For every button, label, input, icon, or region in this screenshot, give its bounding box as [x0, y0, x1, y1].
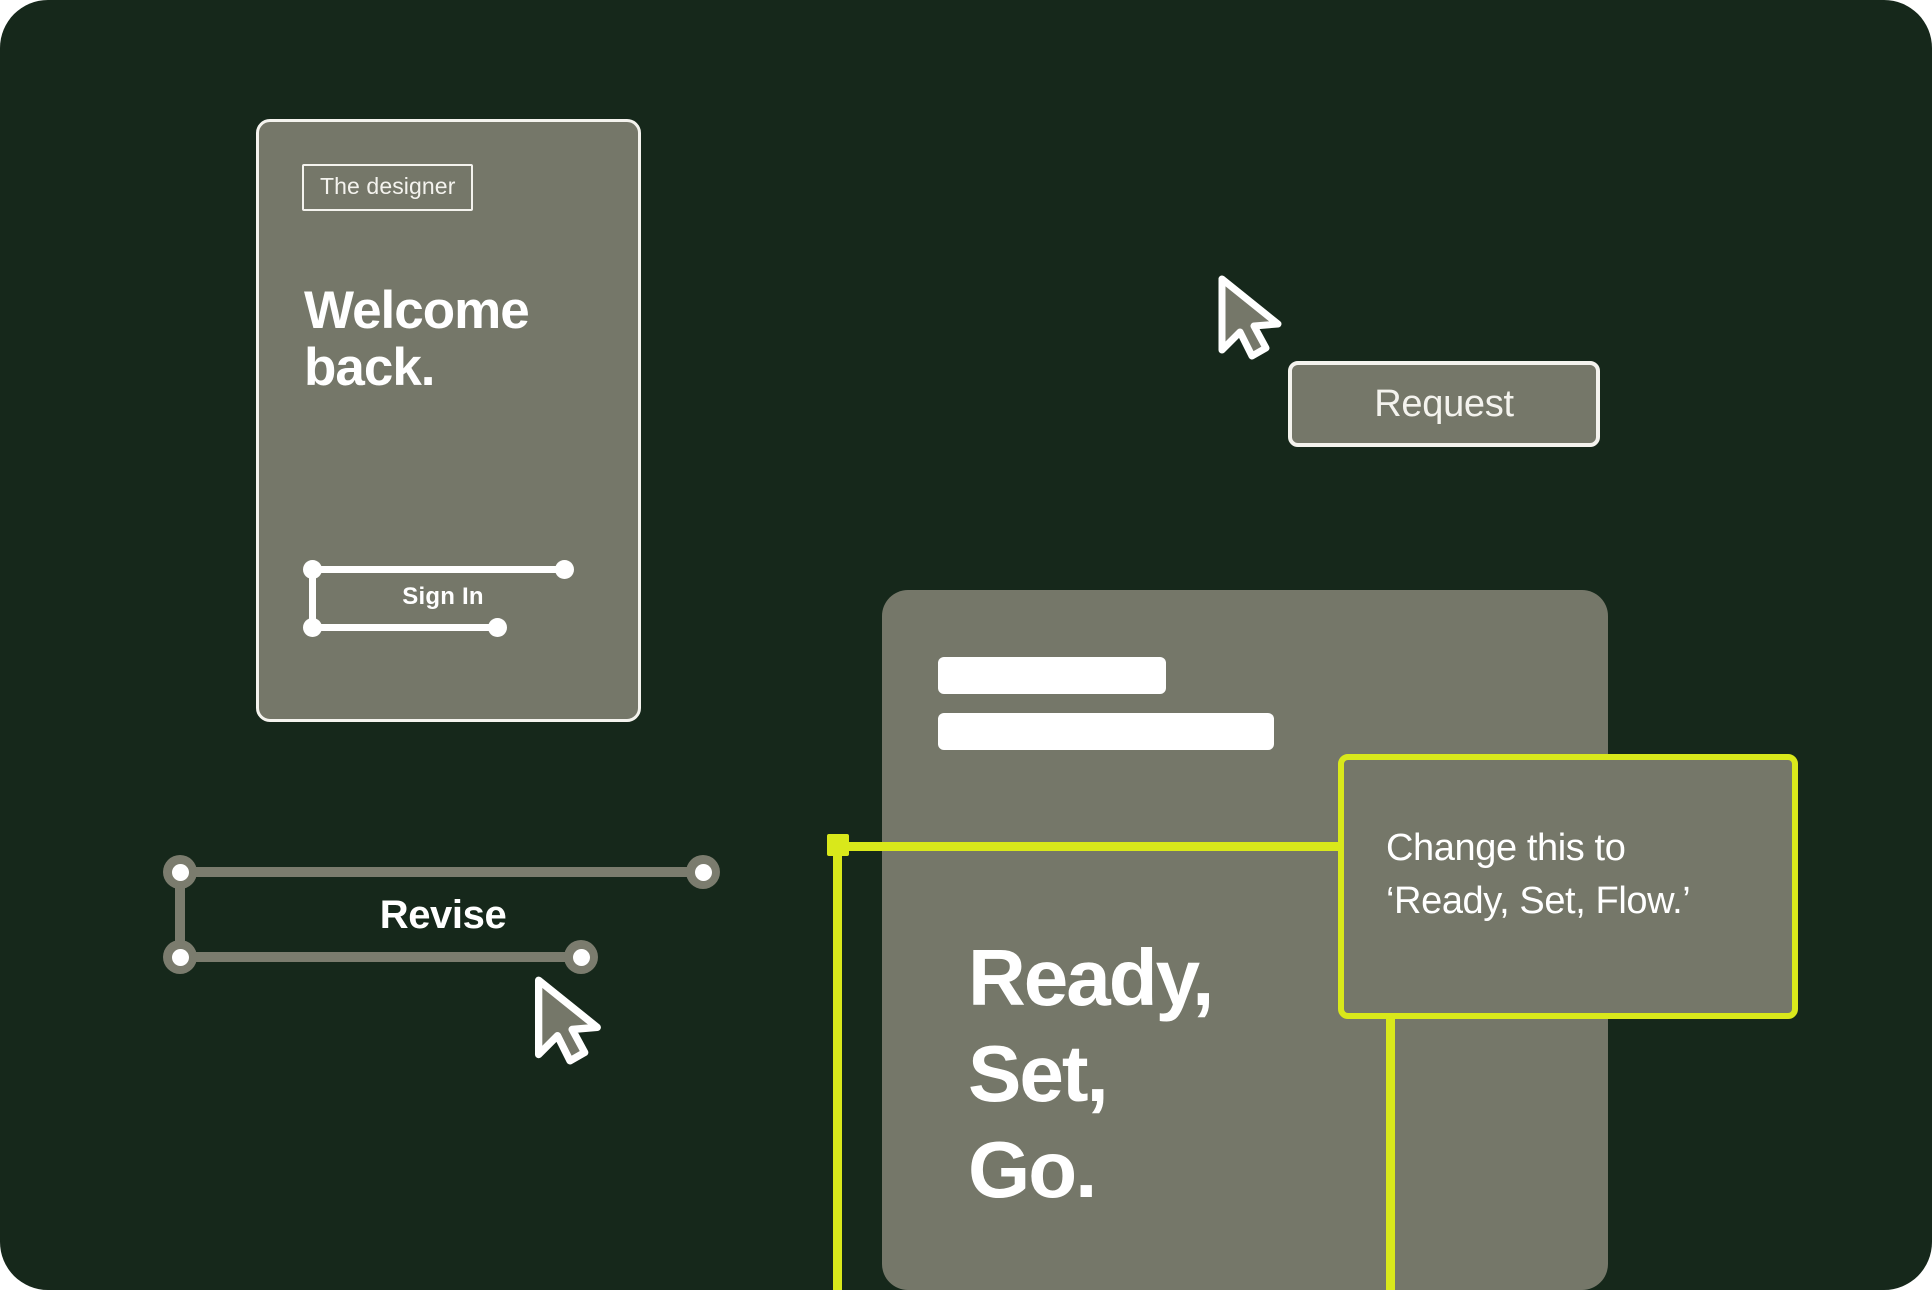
- pointer-cursor-icon: [530, 975, 608, 1070]
- annotation-line-1: Change this to: [1386, 827, 1625, 869]
- selection-line-bottom: [311, 624, 496, 631]
- headline-line-1: Ready,: [968, 933, 1212, 1022]
- pointer-cursor-icon: [1214, 274, 1288, 365]
- annotation-tooltip-text: Change this to ‘Ready, Set, Flow.’: [1386, 822, 1766, 928]
- selection-handle-bottom-left[interactable]: [163, 940, 197, 974]
- annotation-connector-horizontal: [828, 842, 1341, 851]
- placeholder-bar-1: [938, 657, 1166, 694]
- artboard-headline[interactable]: Ready, Set, Go.: [968, 930, 1328, 1218]
- annotation-line-2: ‘Ready, Set, Flow.’: [1386, 875, 1766, 928]
- annotation-tooltip[interactable]: Change this to ‘Ready, Set, Flow.’: [1338, 754, 1798, 1019]
- request-button[interactable]: Request: [1288, 361, 1600, 447]
- selection-corner-handle[interactable]: [827, 834, 849, 856]
- selection-handle-top-right[interactable]: [686, 855, 720, 889]
- selection-handle-top-left[interactable]: [163, 855, 197, 889]
- revise-selection[interactable]: Revise: [163, 855, 723, 965]
- headline-line-2: Set,: [968, 1029, 1107, 1118]
- sign-in-label: Sign In: [343, 583, 543, 611]
- selection-handle-bottom-right[interactable]: [564, 940, 598, 974]
- selection-line-bottom: [179, 952, 581, 962]
- selection-handle-bottom-left[interactable]: [303, 618, 322, 637]
- selection-handle-bottom-right[interactable]: [488, 618, 507, 637]
- selection-line-top: [179, 867, 703, 877]
- selection-handle-top-right[interactable]: [555, 560, 574, 579]
- headline-line-3: Go.: [968, 1125, 1095, 1214]
- sign-in-selection[interactable]: Sign In: [303, 560, 578, 640]
- welcome-line-1: Welcome: [304, 281, 529, 340]
- welcome-line-2: back.: [304, 338, 435, 397]
- design-canvas: The designer Welcome back. Sign In Reque…: [0, 0, 1932, 1290]
- selection-handle-top-left[interactable]: [303, 560, 322, 579]
- annotation-connector-vertical-down: [1386, 1015, 1395, 1290]
- placeholder-bar-2: [938, 713, 1274, 750]
- annotation-connector-vertical-left: [833, 846, 842, 1290]
- welcome-heading: Welcome back.: [304, 282, 604, 396]
- selection-line-top: [311, 566, 563, 573]
- revise-label: Revise: [163, 893, 723, 938]
- designer-badge: The designer: [302, 164, 473, 211]
